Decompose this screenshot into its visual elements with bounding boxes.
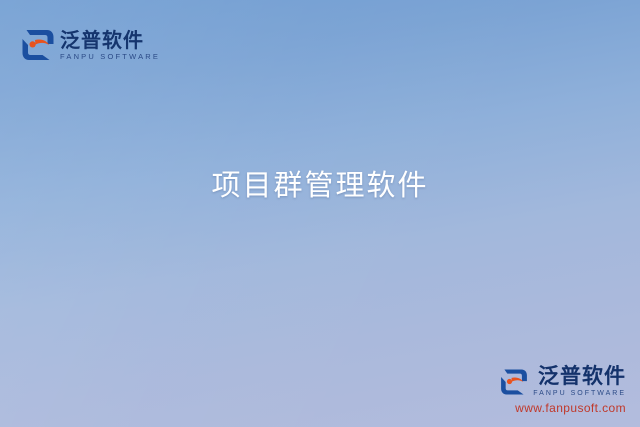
brand-text-bottom-right: 泛普软件 FANPU SOFTWARE xyxy=(533,365,626,399)
slide-canvas: 泛普软件 FANPU SOFTWARE 项目群管理软件 泛普软件 FANPU S… xyxy=(0,0,640,427)
brand-name-en: FANPU SOFTWARE xyxy=(533,389,626,399)
slide-title: 项目群管理软件 xyxy=(0,162,640,204)
brand-text-top-left: 泛普软件 FANPU SOFTWARE xyxy=(60,29,160,62)
brand-name-cn: 泛普软件 xyxy=(533,365,626,388)
brand-name-cn: 泛普软件 xyxy=(60,29,160,51)
website-url: www.fanpusoft.com xyxy=(499,401,626,415)
brand-logo-top-left: 泛普软件 FANPU SOFTWARE xyxy=(20,27,160,63)
fanpu-logo-icon xyxy=(20,27,56,63)
brand-watermark-row: 泛普软件 FANPU SOFTWARE xyxy=(499,365,626,399)
brand-watermark-bottom-right: 泛普软件 FANPU SOFTWARE www.fanpusoft.com xyxy=(499,365,626,415)
fanpu-logo-icon xyxy=(499,367,529,397)
brand-name-en: FANPU SOFTWARE xyxy=(60,52,160,62)
